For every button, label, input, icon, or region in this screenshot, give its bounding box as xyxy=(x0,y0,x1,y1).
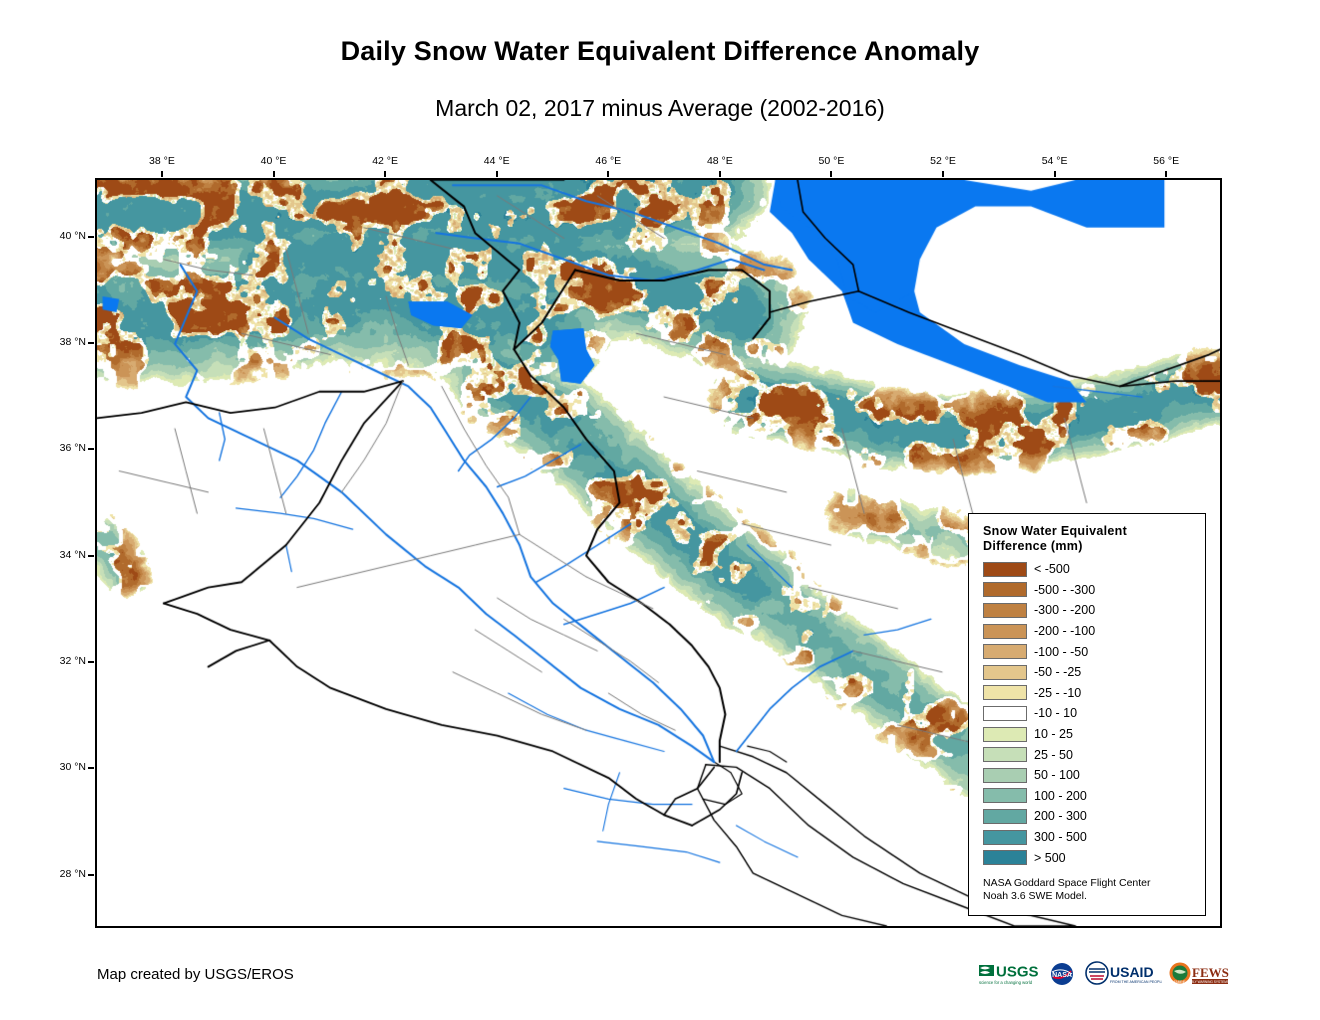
legend-label: > 500 xyxy=(1034,851,1066,865)
lon-tick-mark xyxy=(384,171,386,177)
legend-swatch xyxy=(983,644,1027,659)
legend-label: 200 - 300 xyxy=(1034,809,1087,823)
lat-tick-label: 34 °N xyxy=(36,549,86,561)
lon-tick-label: 46 °E xyxy=(578,155,638,167)
legend-swatch xyxy=(983,603,1027,618)
lon-tick-mark xyxy=(942,171,944,177)
lon-tick-mark xyxy=(496,171,498,177)
legend-label: -500 - -300 xyxy=(1034,583,1095,597)
legend-row: -25 - -10 xyxy=(983,683,1205,704)
agency-logos: USGS science for a changing world NASA U… xyxy=(978,957,1210,991)
legend-row: 10 - 25 xyxy=(983,724,1205,745)
page-title: Daily Snow Water Equivalent Difference A… xyxy=(0,36,1320,67)
legend-note-line2: Noah 3.6 SWE Model. xyxy=(983,890,1205,904)
lat-tick-label: 32 °N xyxy=(36,655,86,667)
lon-tick-label: 44 °E xyxy=(467,155,527,167)
lon-tick-mark xyxy=(1054,171,1056,177)
legend-row: 100 - 200 xyxy=(983,786,1205,807)
legend-row: -10 - 10 xyxy=(983,703,1205,724)
legend-note-line1: NASA Goddard Space Flight Center xyxy=(983,877,1205,891)
usaid-logo: USAID FROM THE AMERICAN PEOPLE xyxy=(1084,959,1162,989)
legend-label: -10 - 10 xyxy=(1034,706,1077,720)
svg-text:FEWS: FEWS xyxy=(1192,965,1229,980)
svg-text:NASA: NASA xyxy=(1052,972,1072,979)
fewsnet-logo: FEWS FAMINE EARLY WARNING SYSTEMS NETWOR… xyxy=(1169,959,1231,989)
svg-text:USGS: USGS xyxy=(996,964,1039,981)
legend-row: -50 - -25 xyxy=(983,662,1205,683)
lat-tick-mark xyxy=(88,236,94,238)
legend-label: 50 - 100 xyxy=(1034,768,1080,782)
legend-label: -25 - -10 xyxy=(1034,686,1081,700)
lon-tick-label: 48 °E xyxy=(690,155,750,167)
lon-tick-mark xyxy=(719,171,721,177)
legend-row: -300 - -200 xyxy=(983,600,1205,621)
legend-note: NASA Goddard Space Flight Center Noah 3.… xyxy=(983,877,1205,904)
lon-tick-mark xyxy=(273,171,275,177)
legend-label: -100 - -50 xyxy=(1034,645,1088,659)
legend-row: > 500 xyxy=(983,847,1205,868)
lat-tick-label: 30 °N xyxy=(36,761,86,773)
lat-tick-mark xyxy=(88,874,94,876)
map-legend: Snow Water Equivalent Difference (mm) < … xyxy=(968,513,1206,916)
legend-swatch xyxy=(983,788,1027,803)
nasa-logo: NASA xyxy=(1047,959,1077,989)
legend-title-line1: Snow Water Equivalent xyxy=(983,524,1205,539)
svg-text:FAMINE EARLY WARNING SYSTEMS N: FAMINE EARLY WARNING SYSTEMS NETWORK xyxy=(1174,980,1231,984)
legend-swatch xyxy=(983,768,1027,783)
legend-swatch xyxy=(983,706,1027,721)
legend-row: -500 - -300 xyxy=(983,580,1205,601)
lat-tick-label: 38 °N xyxy=(36,336,86,348)
legend-swatch xyxy=(983,727,1027,742)
legend-label: -200 - -100 xyxy=(1034,624,1095,638)
legend-swatch xyxy=(983,809,1027,824)
legend-swatch xyxy=(983,830,1027,845)
legend-swatch xyxy=(983,665,1027,680)
legend-swatch xyxy=(983,582,1027,597)
svg-text:FROM THE AMERICAN PEOPLE: FROM THE AMERICAN PEOPLE xyxy=(1110,980,1162,984)
svg-text:USAID: USAID xyxy=(1110,964,1154,980)
page-subtitle: March 02, 2017 minus Average (2002-2016) xyxy=(0,95,1320,122)
legend-row: 25 - 50 xyxy=(983,744,1205,765)
lat-tick-mark xyxy=(88,767,94,769)
legend-label: 300 - 500 xyxy=(1034,830,1087,844)
legend-label: 100 - 200 xyxy=(1034,789,1087,803)
legend-row: 200 - 300 xyxy=(983,806,1205,827)
legend-swatch xyxy=(983,747,1027,762)
lon-tick-label: 38 °E xyxy=(132,155,192,167)
legend-row: 50 - 100 xyxy=(983,765,1205,786)
lat-tick-label: 36 °N xyxy=(36,442,86,454)
lat-tick-label: 40 °N xyxy=(36,230,86,242)
legend-row: < -500 xyxy=(983,559,1205,580)
lon-tick-mark xyxy=(830,171,832,177)
lon-tick-label: 40 °E xyxy=(244,155,304,167)
legend-label: -50 - -25 xyxy=(1034,665,1081,679)
lon-tick-label: 50 °E xyxy=(801,155,861,167)
lon-tick-mark xyxy=(161,171,163,177)
legend-swatch xyxy=(983,850,1027,865)
lon-tick-label: 52 °E xyxy=(913,155,973,167)
legend-label: 10 - 25 xyxy=(1034,727,1073,741)
lon-tick-label: 42 °E xyxy=(355,155,415,167)
legend-label: 25 - 50 xyxy=(1034,748,1073,762)
legend-swatch xyxy=(983,624,1027,639)
legend-row: -200 - -100 xyxy=(983,621,1205,642)
legend-label: -300 - -200 xyxy=(1034,603,1095,617)
lat-tick-mark xyxy=(88,555,94,557)
legend-swatch xyxy=(983,685,1027,700)
map-credit: Map created by USGS/EROS xyxy=(97,966,294,983)
lat-tick-mark xyxy=(88,661,94,663)
legend-swatch xyxy=(983,562,1027,577)
usgs-logo: USGS science for a changing world xyxy=(978,959,1040,989)
lat-tick-label: 28 °N xyxy=(36,868,86,880)
legend-entries: < -500-500 - -300-300 - -200-200 - -100-… xyxy=(983,559,1205,868)
legend-title-line2: Difference (mm) xyxy=(983,539,1205,554)
lon-tick-mark xyxy=(1165,171,1167,177)
lon-tick-mark xyxy=(607,171,609,177)
legend-row: 300 - 500 xyxy=(983,827,1205,848)
lon-tick-label: 56 °E xyxy=(1136,155,1196,167)
lon-tick-label: 54 °E xyxy=(1025,155,1085,167)
lat-tick-mark xyxy=(88,342,94,344)
legend-title: Snow Water Equivalent Difference (mm) xyxy=(983,524,1205,554)
svg-text:science for a changing world: science for a changing world xyxy=(979,980,1033,985)
lat-tick-mark xyxy=(88,448,94,450)
legend-row: -100 - -50 xyxy=(983,641,1205,662)
legend-label: < -500 xyxy=(1034,562,1070,576)
